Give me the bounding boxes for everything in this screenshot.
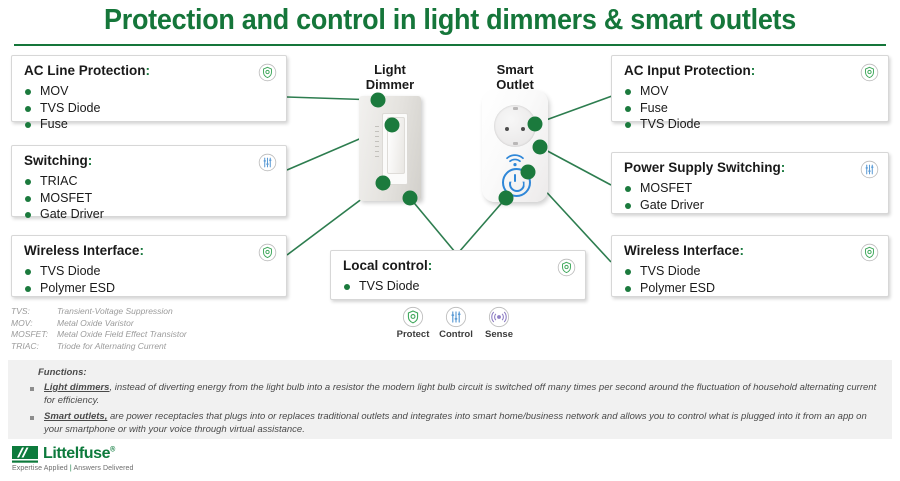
card-item-list: TVS Diode Polymer ESD — [624, 263, 715, 296]
functions-title: Functions: — [38, 367, 87, 378]
legend-item-sense: Sense — [478, 306, 520, 340]
abbrev-key: MOV: — [11, 318, 57, 330]
functions-term: Light dimmers — [44, 382, 109, 393]
card-switching[interactable]: Switching: TRIAC MOSFET Gate Driver — [11, 145, 287, 217]
card-wireless-interface-left[interactable]: Wireless Interface: TVS Diode Polymer ES… — [11, 235, 287, 297]
functions-text: are power receptacles that plugs into or… — [44, 411, 867, 435]
abbrev-row: MOSFET:Metal Oxide Field Effect Transist… — [11, 329, 301, 341]
device-label-smart-outlet: Smart Outlet — [470, 62, 560, 92]
card-item-list: TRIAC MOSFET Gate Driver — [24, 173, 104, 223]
outlet-socket — [494, 105, 536, 147]
abbrev-row: TVS:Transient-Voltage Suppression — [11, 306, 301, 318]
list-item: TVS Diode — [624, 116, 700, 133]
sense-waves-icon — [488, 306, 510, 328]
legend-label: Control — [435, 329, 477, 340]
control-sliders-icon — [860, 160, 879, 179]
functions-bullet-list: Light dimmers, instead of diverting ener… — [30, 382, 880, 440]
legend-item-protect: Protect — [392, 306, 434, 340]
list-item: Gate Driver — [624, 197, 704, 214]
abbrev-row: MOV:Metal Oxide Varistor — [11, 318, 301, 330]
wifi-icon — [504, 153, 526, 167]
functions-bullet: Smart outlets, are power receptacles tha… — [30, 411, 880, 436]
list-item: MOSFET — [624, 180, 704, 197]
list-item: TVS Diode — [624, 263, 715, 280]
list-item: MOV — [624, 83, 700, 100]
card-item-list: TVS Diode — [343, 278, 419, 295]
protect-shield-icon — [557, 258, 576, 277]
protect-shield-icon — [402, 306, 424, 328]
littelfuse-tagline: Expertise Applied | Answers Delivered — [12, 465, 134, 472]
control-sliders-icon — [445, 306, 467, 328]
card-wireless-interface-right[interactable]: Wireless Interface: TVS Diode Polymer ES… — [611, 235, 889, 297]
socket-clip-bottom — [513, 142, 518, 145]
list-item: TVS Diode — [24, 263, 115, 280]
abbrev-row: TRIAC:Triode for Alternating Current — [11, 341, 301, 353]
card-item-list: TVS Diode Polymer ESD — [24, 263, 115, 296]
card-title: Local control: — [343, 258, 432, 273]
card-title: Wireless Interface: — [624, 243, 744, 258]
card-item-list: MOV Fuse TVS Diode — [624, 83, 700, 133]
list-item: Polymer ESD — [624, 280, 715, 297]
card-ac-line-protection[interactable]: AC Line Protection: MOV TVS Diode Fuse — [11, 55, 287, 122]
protect-shield-icon — [258, 243, 277, 262]
list-item: MOV — [24, 83, 100, 100]
legend-label: Protect — [392, 329, 434, 340]
abbrev-value: Transient-Voltage Suppression — [57, 306, 173, 316]
socket-clip-top — [513, 107, 518, 110]
protect-shield-icon — [860, 63, 879, 82]
littelfuse-logo: Littelfuse® Expertise Applied | Answers … — [12, 446, 272, 476]
dimmer-level-ticks — [375, 126, 379, 164]
device-label-light-dimmer: Light Dimmer — [345, 62, 435, 92]
list-item: Fuse — [24, 116, 100, 133]
card-title: Power Supply Switching: — [624, 160, 785, 175]
device-smart-outlet — [482, 90, 548, 202]
card-item-list: MOSFET Gate Driver — [624, 180, 704, 213]
legend-label: Sense — [478, 329, 520, 340]
littelfuse-mark-icon — [12, 446, 38, 463]
tagline-separator: | — [70, 465, 72, 472]
control-sliders-icon — [258, 153, 277, 172]
device-light-dimmer — [359, 96, 421, 201]
tagline-left: Expertise Applied — [12, 465, 68, 472]
tagline-right: Answers Delivered — [73, 465, 133, 472]
power-button[interactable] — [502, 168, 531, 197]
card-title: Wireless Interface: — [24, 243, 144, 258]
functions-term: Smart outlets, — [44, 411, 107, 422]
card-local-control[interactable]: Local control: TVS Diode — [330, 250, 586, 300]
littelfuse-wordmark: Littelfuse® — [43, 445, 115, 463]
abbrev-key: TRIAC: — [11, 341, 57, 353]
functions-text: , instead of diverting energy from the l… — [44, 382, 876, 406]
dimmer-slider-well — [382, 113, 408, 185]
list-item: TVS Diode — [24, 100, 100, 117]
card-item-list: MOV TVS Diode Fuse — [24, 83, 100, 133]
slide-root: Protection and control in light dimmers … — [0, 0, 900, 481]
card-title: Switching: — [24, 153, 92, 168]
page-title: Protection and control in light dimmers … — [32, 4, 869, 37]
list-item: TVS Diode — [343, 278, 419, 295]
card-title: AC Input Protection: — [624, 63, 755, 78]
functions-panel: Functions: Light dimmers, instead of div… — [8, 360, 892, 439]
abbrev-value: Metal Oxide Varistor — [57, 318, 134, 328]
list-item: Polymer ESD — [24, 280, 115, 297]
dimmer-rocker[interactable] — [387, 117, 405, 174]
card-title: AC Line Protection: — [24, 63, 150, 78]
card-ac-input-protection[interactable]: AC Input Protection: MOV Fuse TVS Diode — [611, 55, 889, 122]
function-legend: Protect Control Sense — [392, 306, 518, 346]
protect-shield-icon — [860, 243, 879, 262]
abbrev-value: Metal Oxide Field Effect Transistor — [57, 329, 187, 339]
list-item: TRIAC — [24, 173, 104, 190]
abbrev-key: MOSFET: — [11, 329, 57, 341]
legend-item-control: Control — [435, 306, 477, 340]
title-divider — [14, 44, 886, 46]
protect-shield-icon — [258, 63, 277, 82]
socket-hole-right — [521, 127, 525, 131]
list-item: Fuse — [624, 100, 700, 117]
abbrev-key: TVS: — [11, 306, 57, 318]
list-item: MOSFET — [24, 190, 104, 207]
card-power-supply-switching[interactable]: Power Supply Switching: MOSFET Gate Driv… — [611, 152, 889, 214]
list-item: Gate Driver — [24, 206, 104, 223]
abbreviation-legend: TVS:Transient-Voltage Suppression MOV:Me… — [11, 306, 301, 352]
abbrev-value: Triode for Alternating Current — [57, 341, 166, 351]
functions-bullet: Light dimmers, instead of diverting ener… — [30, 382, 880, 407]
socket-hole-left — [505, 127, 509, 131]
